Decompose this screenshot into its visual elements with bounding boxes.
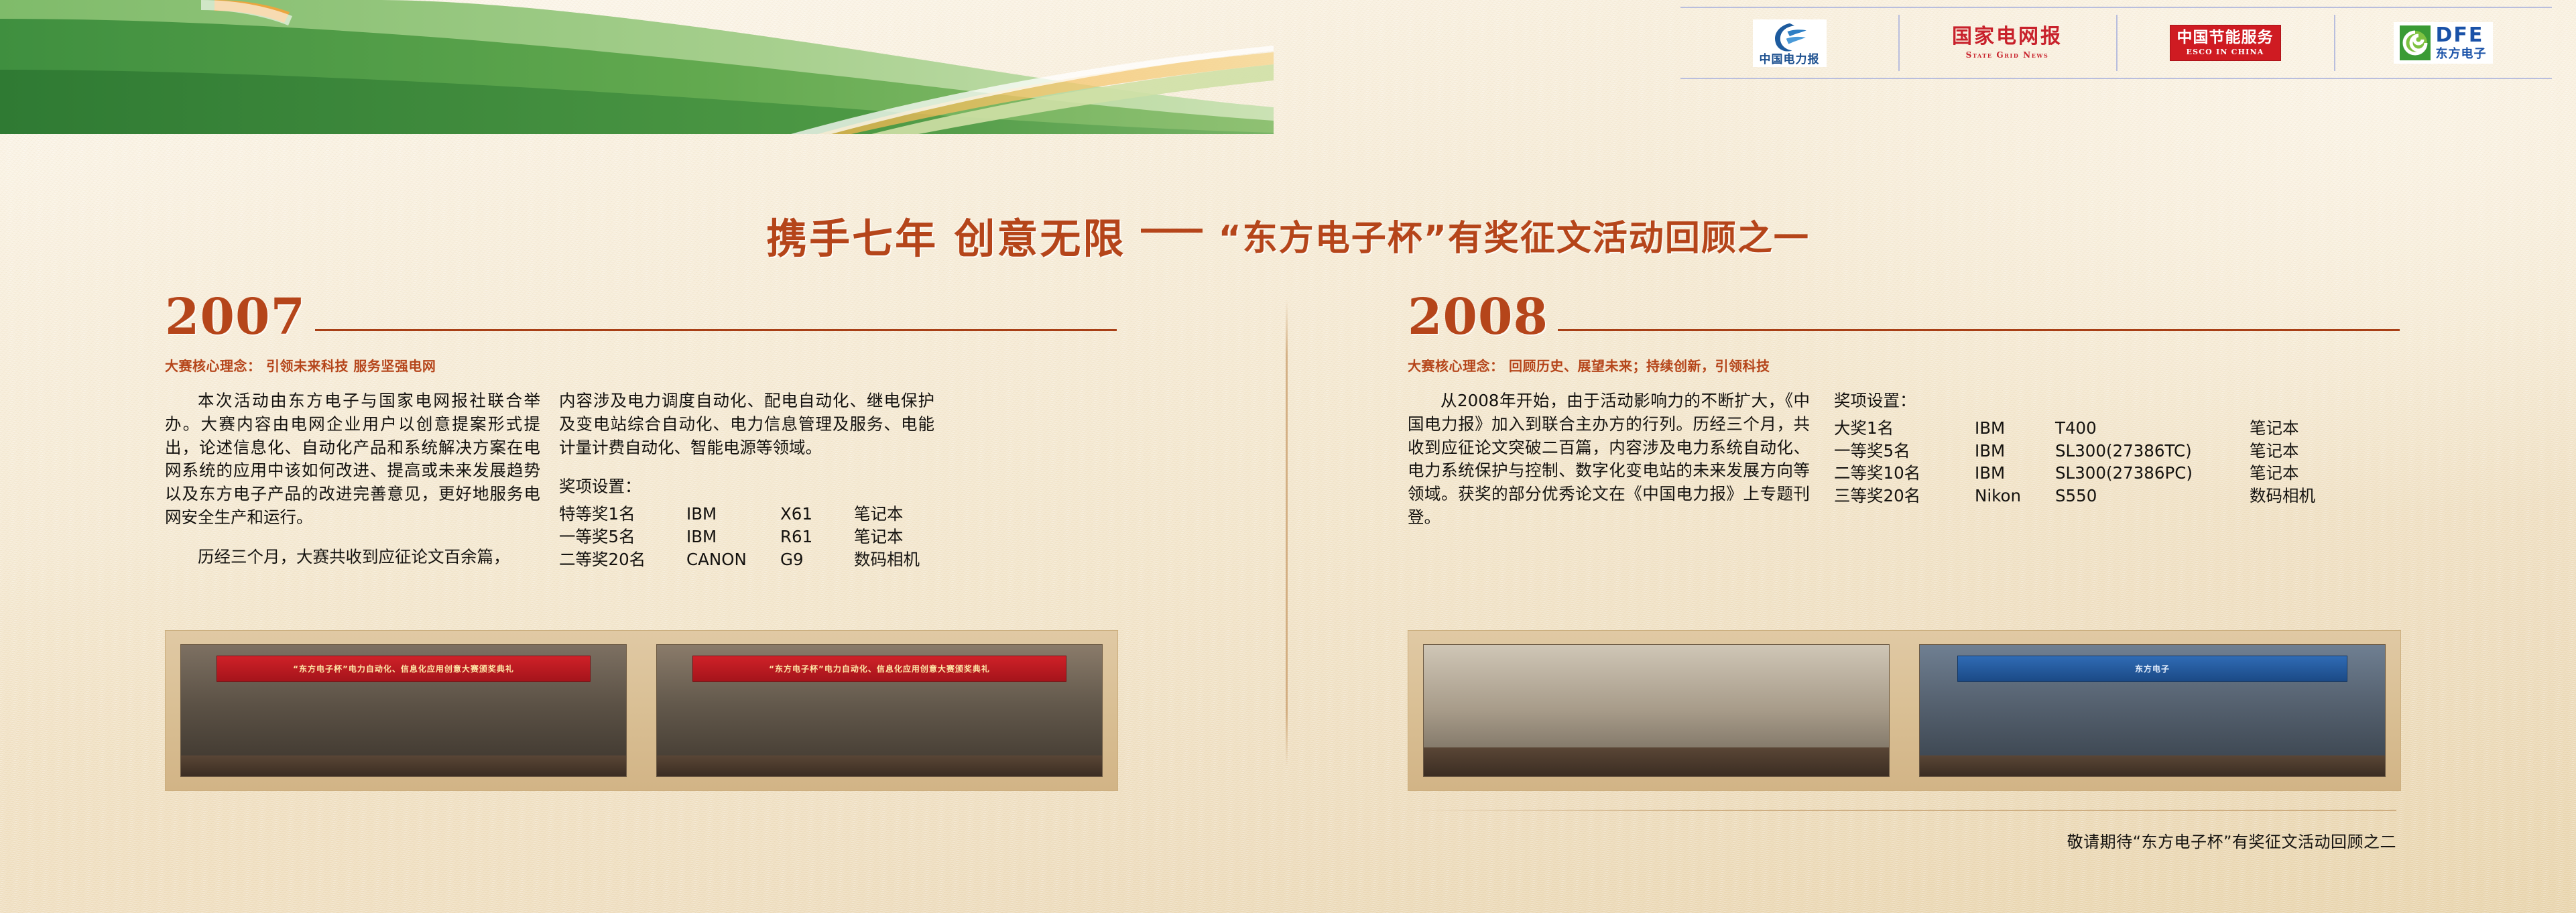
table-row: 一等奖5名 IBM R61 笔记本 <box>559 526 920 548</box>
sgn-name-cn: 国家电网报 <box>1952 27 2063 47</box>
photo-banner-text: “东方电子杯”电力自动化、信息化应用创意大赛颁奖典礼 <box>217 656 591 682</box>
sponsor-logo-bar: 中国电力报 国家电网报 State Grid News 中国节能服务 ESCO … <box>1680 7 2552 79</box>
award-model: S550 <box>2055 485 2250 507</box>
sgn-name-en: State Grid News <box>1966 50 2049 60</box>
award-rank: 一等奖5名 <box>559 526 686 548</box>
dfe-name-cn: 东方电子 <box>2436 48 2487 60</box>
award-brand: IBM <box>686 526 780 548</box>
body-column-left-2008: 从2008年开始，由于活动影响力的不断扩大，《中国电力报》加入到联合主办方的行列… <box>1408 389 1810 530</box>
table-row: 二等奖10名 IBM SL300(27386PC) 笔记本 <box>1834 462 2315 485</box>
year-heading-2007: 2007 <box>165 288 1117 341</box>
award-model: G9 <box>780 548 854 571</box>
esco-name-en: ESCO IN CHINA <box>2186 48 2264 56</box>
award-prize: 数码相机 <box>854 548 920 571</box>
table-row: 二等奖20名 CANON G9 数码相机 <box>559 548 920 571</box>
poster-page: 中国电力报 国家电网报 State Grid News 中国节能服务 ESCO … <box>0 0 2576 913</box>
photo-strip-2008: 东方电子 <box>1408 630 2401 791</box>
awards-table-2007: 特等奖1名 IBM X61 笔记本 一等奖5名 IBM R61 笔记本 <box>559 503 920 571</box>
logo-china-electric-power-news[interactable]: 中国电力报 <box>1680 7 1898 79</box>
award-rank: 特等奖1名 <box>559 503 686 526</box>
concept-line-2008: 大赛核心理念： 回顾历史、展望未来；持续创新，引领科技 <box>1408 355 2400 375</box>
year-panel-2007: 2007 大赛核心理念： 引领未来科技 服务坚强电网 本次活动由东方电子与国家电… <box>165 288 1117 571</box>
body-column-left-2007: 本次活动由东方电子与国家电网报社联合举办。大赛内容由电网企业用户以创意提案形式提… <box>165 389 540 571</box>
award-rank: 三等奖20名 <box>1834 485 1975 507</box>
award-brand: IBM <box>1975 417 2055 440</box>
logo-dongfang-electronics[interactable]: DFE 东方电子 <box>2334 7 2552 79</box>
award-prize: 数码相机 <box>2250 485 2315 507</box>
award-model: R61 <box>780 526 854 548</box>
photo-strip-2007: “东方电子杯”电力自动化、信息化应用创意大赛颁奖典礼 “东方电子杯”电力自动化、… <box>165 630 1118 791</box>
award-prize: 笔记本 <box>2250 462 2315 485</box>
award-prize: 笔记本 <box>2250 417 2315 440</box>
paragraph: 历经三个月，大赛共收到应征论文百余篇， <box>165 546 540 569</box>
year-panel-2008: 2008 大赛核心理念： 回顾历史、展望未来；持续创新，引领科技 从2008年开… <box>1408 288 2400 530</box>
dfe-spiral-icon <box>2400 25 2431 60</box>
event-photo[interactable]: “东方电子杯”电力自动化、信息化应用创意大赛颁奖典礼 <box>180 644 627 777</box>
logo-esco-in-china[interactable]: 中国节能服务 ESCO IN CHINA <box>2116 7 2334 79</box>
award-model: X61 <box>780 503 854 526</box>
award-model: T400 <box>2055 417 2250 440</box>
event-photo[interactable]: “东方电子杯”电力自动化、信息化应用创意大赛颁奖典礼 <box>656 644 1103 777</box>
table-row: 一等奖5名 IBM SL300(27386TC) 笔记本 <box>1834 440 2315 463</box>
paragraph: 本次活动由东方电子与国家电网报社联合举办。大赛内容由电网企业用户以创意提案形式提… <box>165 389 540 530</box>
concept-line-2007: 大赛核心理念： 引领未来科技 服务坚强电网 <box>165 355 1117 375</box>
award-prize: 笔记本 <box>854 503 920 526</box>
award-prize: 笔记本 <box>2250 440 2315 463</box>
logo-state-grid-news[interactable]: 国家电网报 State Grid News <box>1898 7 2116 79</box>
year-number: 2007 <box>165 294 306 341</box>
headline-sub: “东方电子杯”有奖征文活动回顾之一 <box>1219 219 1810 259</box>
content-columns-2007: 本次活动由东方电子与国家电网报社联合举办。大赛内容由电网企业用户以创意提案形式提… <box>165 389 1117 571</box>
photo-banner-text: “东方电子杯”电力自动化、信息化应用创意大赛颁奖典礼 <box>692 656 1066 682</box>
award-rank: 二等奖20名 <box>559 548 686 571</box>
event-photo[interactable]: 东方电子 <box>1919 644 2386 777</box>
body-column-right-2008: 奖项设置： 大奖1名 IBM T400 笔记本 一等奖5名 IBM SL300(… <box>1834 389 2343 530</box>
year-number: 2008 <box>1408 294 1548 341</box>
body-column-right-2007: 内容涉及电力调度自动化、配电自动化、继电保护及变电站综合自动化、电力信息管理及服… <box>559 389 934 571</box>
awards-title: 奖项设置： <box>1834 389 2343 413</box>
award-rank: 大奖1名 <box>1834 417 1975 440</box>
awards-title: 奖项设置： <box>559 475 934 499</box>
event-photo[interactable] <box>1423 644 1890 777</box>
award-model: SL300(27386TC) <box>2055 440 2250 463</box>
year-rule <box>1558 329 2400 331</box>
award-model: SL300(27386PC) <box>2055 462 2250 485</box>
green-ribbon-graphic <box>0 0 1274 134</box>
award-brand: IBM <box>1975 440 2055 463</box>
paragraph: 内容涉及电力调度自动化、配电自动化、继电保护及变电站综合自动化、电力信息管理及服… <box>559 389 934 459</box>
cepn-name: 中国电力报 <box>1760 54 1820 66</box>
table-row: 大奖1名 IBM T400 笔记本 <box>1834 417 2315 440</box>
award-brand: CANON <box>686 548 780 571</box>
table-row: 三等奖20名 Nikon S550 数码相机 <box>1834 485 2315 507</box>
section-divider <box>1286 299 1288 768</box>
award-prize: 笔记本 <box>854 526 920 548</box>
award-brand: IBM <box>1975 462 2055 485</box>
content-columns-2008: 从2008年开始，由于活动影响力的不断扩大，《中国电力报》加入到联合主办方的行列… <box>1408 389 2400 530</box>
headline-main: 携手七年 创意无限 <box>766 215 1125 263</box>
award-rank: 二等奖10名 <box>1834 462 1975 485</box>
table-row: 特等奖1名 IBM X61 笔记本 <box>559 503 920 526</box>
photo-banner-text: 东方电子 <box>1957 656 2348 682</box>
page-title: 携手七年 创意无限 “东方电子杯”有奖征文活动回顾之一 <box>0 205 2576 265</box>
award-brand: Nikon <box>1975 485 2055 507</box>
year-heading-2008: 2008 <box>1408 288 2400 341</box>
awards-table-2008: 大奖1名 IBM T400 笔记本 一等奖5名 IBM SL300(27386T… <box>1834 417 2315 507</box>
award-brand: IBM <box>686 503 780 526</box>
dfe-abbr: DFE <box>2436 25 2487 46</box>
cepn-swoosh-icon <box>1772 22 1808 53</box>
paragraph: 从2008年开始，由于活动影响力的不断扩大，《中国电力报》加入到联合主办方的行列… <box>1408 389 1810 530</box>
year-rule <box>315 329 1117 331</box>
footer-note: 敬请期待“东方电子杯”有奖征文活动回顾之二 <box>2067 829 2396 852</box>
esco-name-cn: 中国节能服务 <box>2177 30 2274 46</box>
footer-rule <box>1408 810 2396 811</box>
headline-dash <box>1141 229 1203 233</box>
award-rank: 一等奖5名 <box>1834 440 1975 463</box>
